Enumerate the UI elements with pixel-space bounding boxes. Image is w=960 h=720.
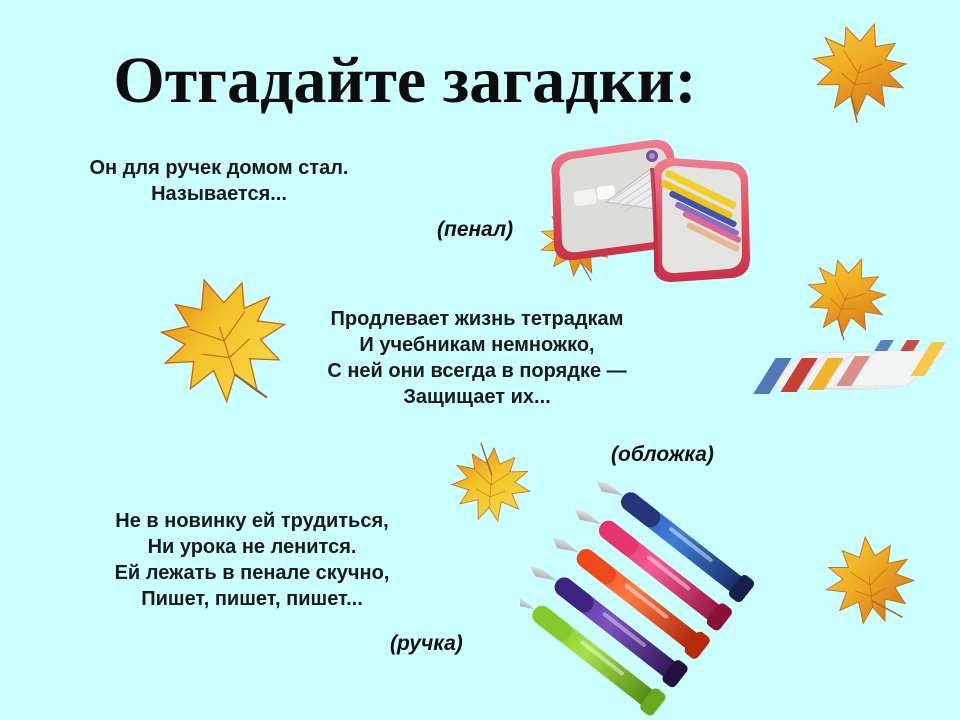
riddle-answer-1: (пенал) (437, 218, 513, 242)
book-covers-photo (752, 332, 954, 418)
open-pencil-case-photo (534, 132, 756, 312)
riddle-answer-3: (ручка) (390, 632, 463, 656)
riddle-text-2: Продлевает жизнь тетрадкам И учебникам н… (278, 306, 676, 410)
riddle-answer-2: (обложка) (611, 443, 714, 467)
page-title: Отгадайте загадки: (0, 48, 810, 114)
riddle-text-1: Он для ручек домом стал. Называется... (24, 155, 414, 207)
maple-leaf-top-right-icon (795, 12, 923, 130)
slide-canvas: Отгадайте загадки: (0, 0, 960, 720)
riddle-text-3: Не в новинку ей трудиться, Ни урока не л… (52, 508, 452, 612)
maple-leaf-bottom-right-icon (812, 528, 928, 638)
ballpoint-pens-photo (520, 478, 764, 720)
